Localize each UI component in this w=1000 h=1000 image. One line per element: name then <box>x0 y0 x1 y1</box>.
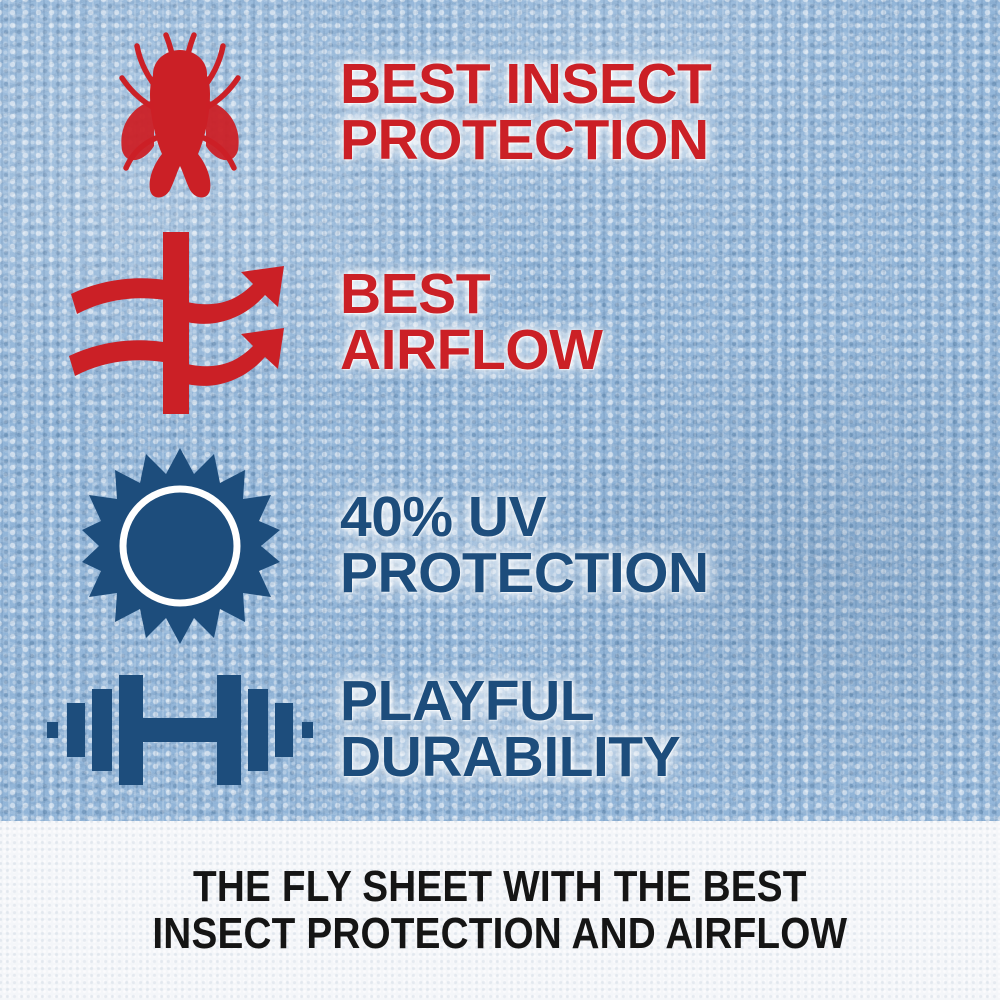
feature-row-uv-protection: 40% UV PROTECTION <box>30 438 990 653</box>
feature-row-durability: PLAYFUL DURABILITY <box>30 645 990 815</box>
feature-icon-cell <box>30 26 330 201</box>
feature-text-cell: BEST AIRFLOW <box>340 267 602 379</box>
sun-uv-icon <box>80 446 280 646</box>
footer-banner: THE FLY SHEET WITH THE BEST INSECT PROTE… <box>0 821 1000 1000</box>
feature-icon-cell <box>30 446 330 646</box>
feature-label-insect-protection: BEST INSECT PROTECTION <box>340 57 711 169</box>
feature-icon-cell <box>30 665 330 795</box>
feature-label-airflow: BEST AIRFLOW <box>340 267 602 379</box>
feature-icon-cell <box>30 228 330 418</box>
feature-label-uv-protection: 40% UV PROTECTION <box>340 490 709 602</box>
dumbbell-icon <box>45 665 315 795</box>
fly-icon <box>110 26 250 201</box>
feature-text-cell: 40% UV PROTECTION <box>340 490 709 602</box>
feature-text-cell: BEST INSECT PROTECTION <box>340 57 711 169</box>
footer-tagline: THE FLY SHEET WITH THE BEST INSECT PROTE… <box>153 864 848 957</box>
feature-row-insect-protection: BEST INSECT PROTECTION <box>30 18 990 208</box>
feature-row-airflow: BEST AIRFLOW <box>30 220 990 425</box>
feature-text-cell: PLAYFUL DURABILITY <box>340 674 680 786</box>
sun-burst-shape <box>82 448 280 644</box>
airflow-arrows-icon <box>65 228 295 418</box>
feature-label-durability: PLAYFUL DURABILITY <box>340 674 680 786</box>
product-feature-poster: BEST INSECT PROTECTION <box>0 0 1000 1000</box>
